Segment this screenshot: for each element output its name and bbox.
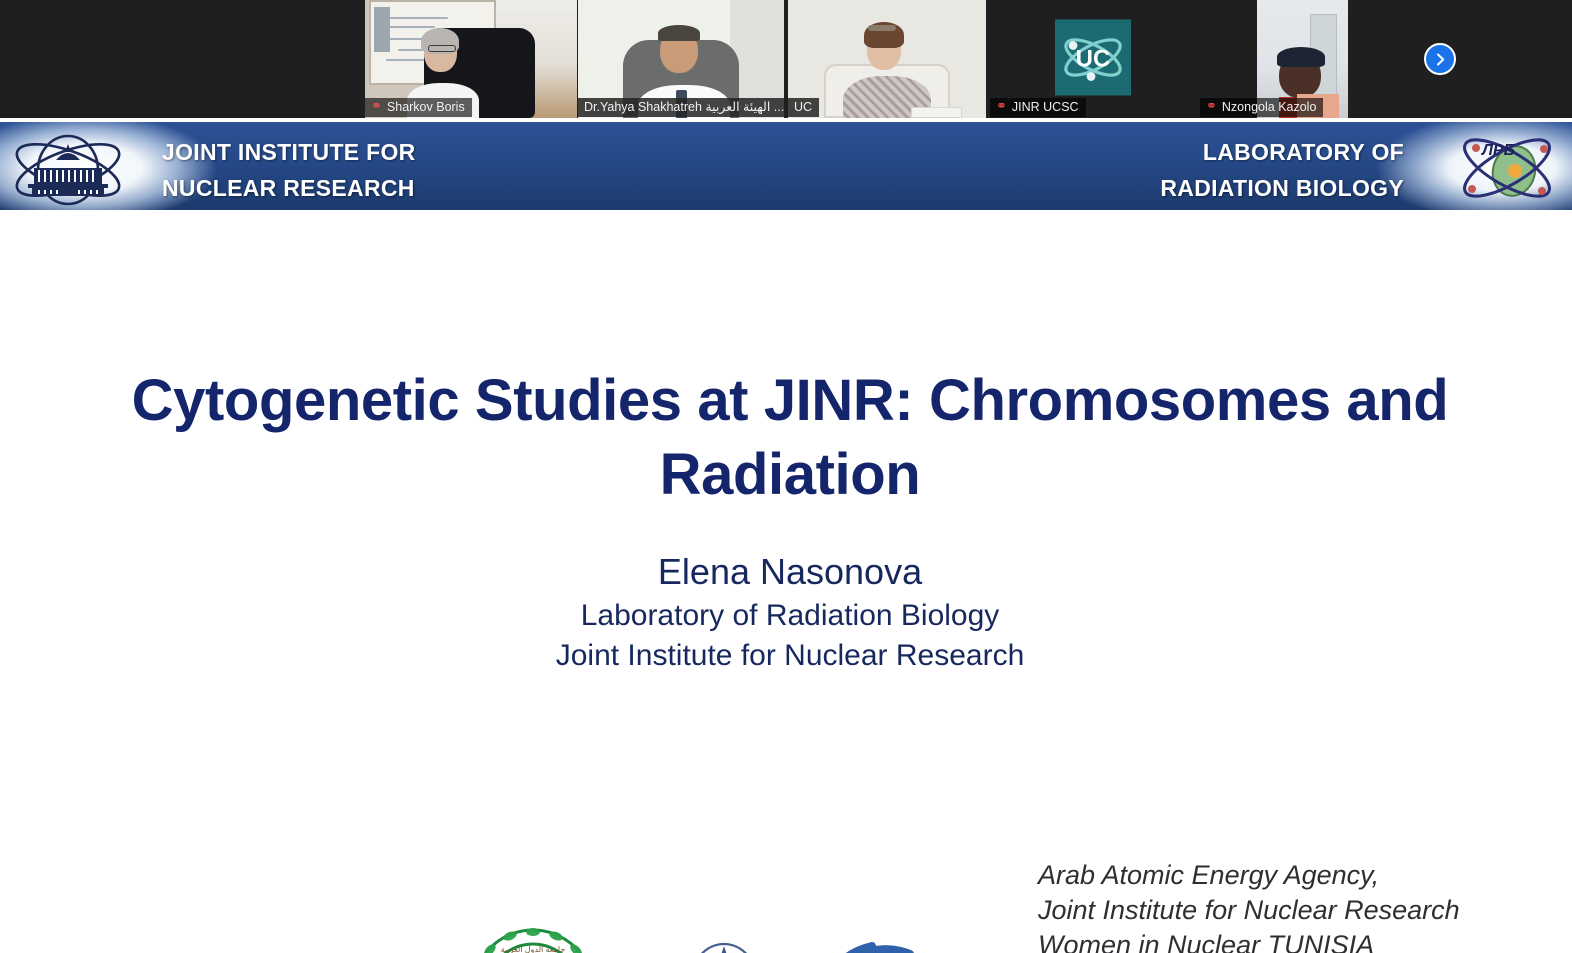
svg-text:جامعة الدول العربية: جامعة الدول العربية <box>501 945 566 953</box>
chevron-right-icon <box>1433 52 1448 67</box>
participant-tile-sharkov-boris[interactable]: ⚭ Sharkov Boris <box>365 0 577 118</box>
participant-name: Dr.Yahya Shakhatreh الهيئة العربية ... <box>584 100 784 114</box>
participant-name: UC <box>794 100 812 114</box>
author-name: Elena Nasonova <box>180 548 1400 596</box>
arab-atomic-energy-agency-logo-icon: جامعة الدول العربية الهيئة العربية للطاق… <box>452 918 614 953</box>
uc-atom-icon: UC <box>1055 19 1131 95</box>
banner-left-title: JOINT INSTITUTE FOR NUCLEAR RESEARCH <box>162 134 416 206</box>
participant-namebar: Dr.Yahya Shakhatreh الهيئة العربية ... <box>578 98 784 117</box>
avatar-initials: UC <box>1075 45 1110 72</box>
banner-left-line1: JOINT INSTITUTE FOR <box>162 134 416 170</box>
author-affiliation-line1: Laboratory of Radiation Biology <box>180 596 1400 636</box>
banner-left-line2: NUCLEAR RESEARCH <box>162 170 416 206</box>
banner-right-line1: LABORATORY OF <box>1160 134 1404 170</box>
banner-right-line2: RADIATION BIOLOGY <box>1160 170 1404 206</box>
win-tunisia-logo-icon: WIN TUNISIA Women in Nuclear <box>812 932 970 953</box>
participant-tile-jinr-ucsc[interactable]: UC ⚭ JINR UCSC <box>990 0 1195 118</box>
sponsor-logo-row: جامعة الدول العربية الهيئة العربية للطاق… <box>440 910 1000 953</box>
author-block: Elena Nasonova Laboratory of Radiation B… <box>180 548 1400 676</box>
organizer-line3: Women in Nuclear TUNISIA <box>1038 928 1508 953</box>
participant-namebar: ⚭ Sharkov Boris <box>365 98 472 117</box>
mic-muted-icon: ⚭ <box>1206 99 1217 113</box>
svg-text:ЛРБ: ЛРБ <box>1481 142 1515 159</box>
jinr-atom-building-logo-icon <box>8 128 128 208</box>
author-affiliation-line2: Joint Institute for Nuclear Research <box>180 636 1400 676</box>
participant-tile-dr-yahya-shakhatreh[interactable]: Dr.Yahya Shakhatreh الهيئة العربية ... <box>578 0 784 118</box>
participant-name: Nzongola Kazolo <box>1222 100 1317 114</box>
participant-name: JINR UCSC <box>1012 100 1079 114</box>
mic-muted-icon: ⚭ <box>371 99 382 113</box>
jinr-logo-icon: JOINT INSTITUTE FOR NUCLEAR RESEARCH <box>648 928 800 953</box>
participant-tile-nzongola-kazolo[interactable]: ⚭ Nzongola Kazolo <box>1200 0 1405 118</box>
banner-right-title: LABORATORY OF RADIATION BIOLOGY <box>1160 134 1404 206</box>
participant-namebar: ⚭ JINR UCSC <box>990 98 1086 117</box>
next-participants-page-button[interactable] <box>1424 43 1456 75</box>
lrb-atom-cell-logo-icon: ЛРБ <box>1452 127 1562 209</box>
participant-namebar: UC <box>788 98 819 117</box>
participant-filmstrip: ⚭ Sharkov Boris Dr.Yahya Shakhatreh الهي… <box>0 0 1572 118</box>
mic-muted-icon: ⚭ <box>996 99 1007 113</box>
slide-header-banner: JOINT INSTITUTE FOR NUCLEAR RESEARCH LAB… <box>0 120 1572 212</box>
presentation-slide: JOINT INSTITUTE FOR NUCLEAR RESEARCH LAB… <box>0 118 1572 953</box>
participant-tile-uc[interactable]: UC <box>788 0 986 118</box>
zoom-screen-share-window: ⚭ Sharkov Boris Dr.Yahya Shakhatreh الهي… <box>0 0 1572 953</box>
organizer-line1: Arab Atomic Energy Agency, <box>1038 858 1508 893</box>
participant-name: Sharkov Boris <box>387 100 465 114</box>
jinr-ucsc-avatar: UC <box>1055 19 1131 95</box>
organizers-block: Arab Atomic Energy Agency, Joint Institu… <box>1038 858 1508 953</box>
participant-namebar: ⚭ Nzongola Kazolo <box>1200 98 1323 117</box>
slide-title: Cytogenetic Studies at JINR: Chromosomes… <box>120 364 1460 512</box>
organizer-line2: Joint Institute for Nuclear Research <box>1038 893 1508 928</box>
